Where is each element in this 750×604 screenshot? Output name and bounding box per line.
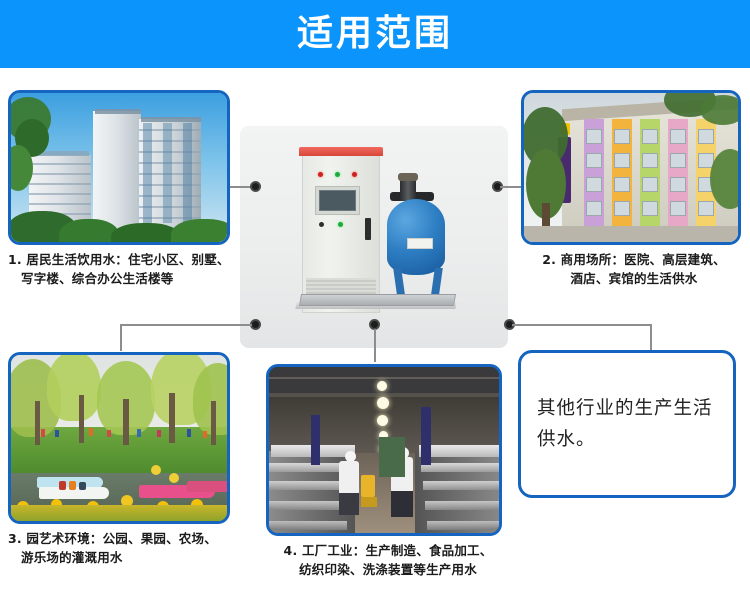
item-photo-2 — [521, 90, 741, 245]
item-caption-2: 2. 商用场所：医院、高层建筑、 酒店、宾馆的生活供水 — [521, 250, 747, 289]
cabinet-red-top — [299, 147, 383, 156]
item-caption-2-line1: 2. 商用场所：医院、高层建筑、 — [521, 250, 747, 269]
textbox-line2: 供水。 — [537, 424, 713, 455]
item-caption-2-line2: 酒店、宾馆的生活供水 — [521, 269, 747, 288]
hmi-touch-panel — [315, 186, 360, 215]
item-card-3[interactable]: 3. 园艺术环境：公园、果园、农场、 游乐场的灌溉用水 — [8, 352, 238, 568]
item-card-4[interactable]: 4. 工厂工业：生产制造、食品加工、 纺织印染、洗涤装置等生产用水 — [266, 364, 510, 580]
button-black — [319, 222, 324, 227]
connector-line-bottom-center — [374, 329, 376, 362]
indicator-lamp-red-left — [318, 172, 323, 177]
other-industries-textbox[interactable]: 其他行业的生产生活 供水。 — [518, 350, 736, 498]
item-caption-3-line1: 3. 园艺术环境：公园、果园、农场、 — [8, 529, 238, 548]
center-equipment-panel — [240, 126, 508, 348]
connector-dot-left — [250, 181, 261, 192]
connector-line-bottom-left-h — [120, 324, 252, 326]
item-caption-4-line2: 纺织印染、洗涤装置等生产用水 — [266, 560, 510, 579]
item-caption-1-line2: 写字楼、综合办公生活楼等 — [8, 269, 238, 288]
connector-line-bottom-right-v — [650, 324, 652, 351]
item-caption-4: 4. 工厂工业：生产制造、食品加工、 纺织印染、洗涤装置等生产用水 — [266, 541, 510, 580]
indicator-lamp-green-center — [335, 172, 340, 177]
item-caption-3-line2: 游乐场的灌溉用水 — [8, 548, 238, 567]
tank-cap — [398, 173, 418, 181]
tank-label — [407, 238, 433, 249]
item-caption-4-line1: 4. 工厂工业：生产制造、食品加工、 — [266, 541, 510, 560]
item-card-1[interactable]: 1. 居民生活饮用水：住宅小区、别墅、 写字楼、综合办公生活楼等 — [8, 90, 238, 289]
page-root: 适用范围 — [0, 0, 750, 604]
equipment-base — [299, 294, 456, 306]
cabinet-slot — [365, 218, 371, 240]
item-caption-1-line1: 1. 居民生活饮用水：住宅小区、别墅、 — [8, 250, 238, 269]
textbox-content: 其他行业的生产生活 供水。 — [521, 393, 729, 456]
button-green — [338, 222, 343, 227]
item-caption-1: 1. 居民生活饮用水：住宅小区、别墅、 写字楼、综合办公生活楼等 — [8, 250, 238, 289]
page-title: 适用范围 — [0, 0, 750, 68]
textbox-line1: 其他行业的生产生活 — [537, 393, 713, 424]
item-photo-4 — [266, 364, 502, 536]
header-banner: 适用范围 — [0, 0, 750, 68]
building-center — [93, 111, 141, 231]
indicator-lamp-red-right — [352, 172, 357, 177]
pressure-tank — [387, 199, 445, 275]
item-card-2[interactable]: 2. 商用场所：医院、高层建筑、 酒店、宾馆的生活供水 — [521, 90, 747, 289]
item-photo-3 — [8, 352, 230, 524]
item-caption-3: 3. 园艺术环境：公园、果园、农场、 游乐场的灌溉用水 — [8, 529, 238, 568]
connector-line-bottom-right-h — [512, 324, 651, 326]
tank-neck — [400, 178, 416, 201]
hmi-screen — [319, 190, 356, 211]
item-photo-1 — [8, 90, 230, 245]
connector-line-bottom-left-v — [120, 324, 122, 351]
